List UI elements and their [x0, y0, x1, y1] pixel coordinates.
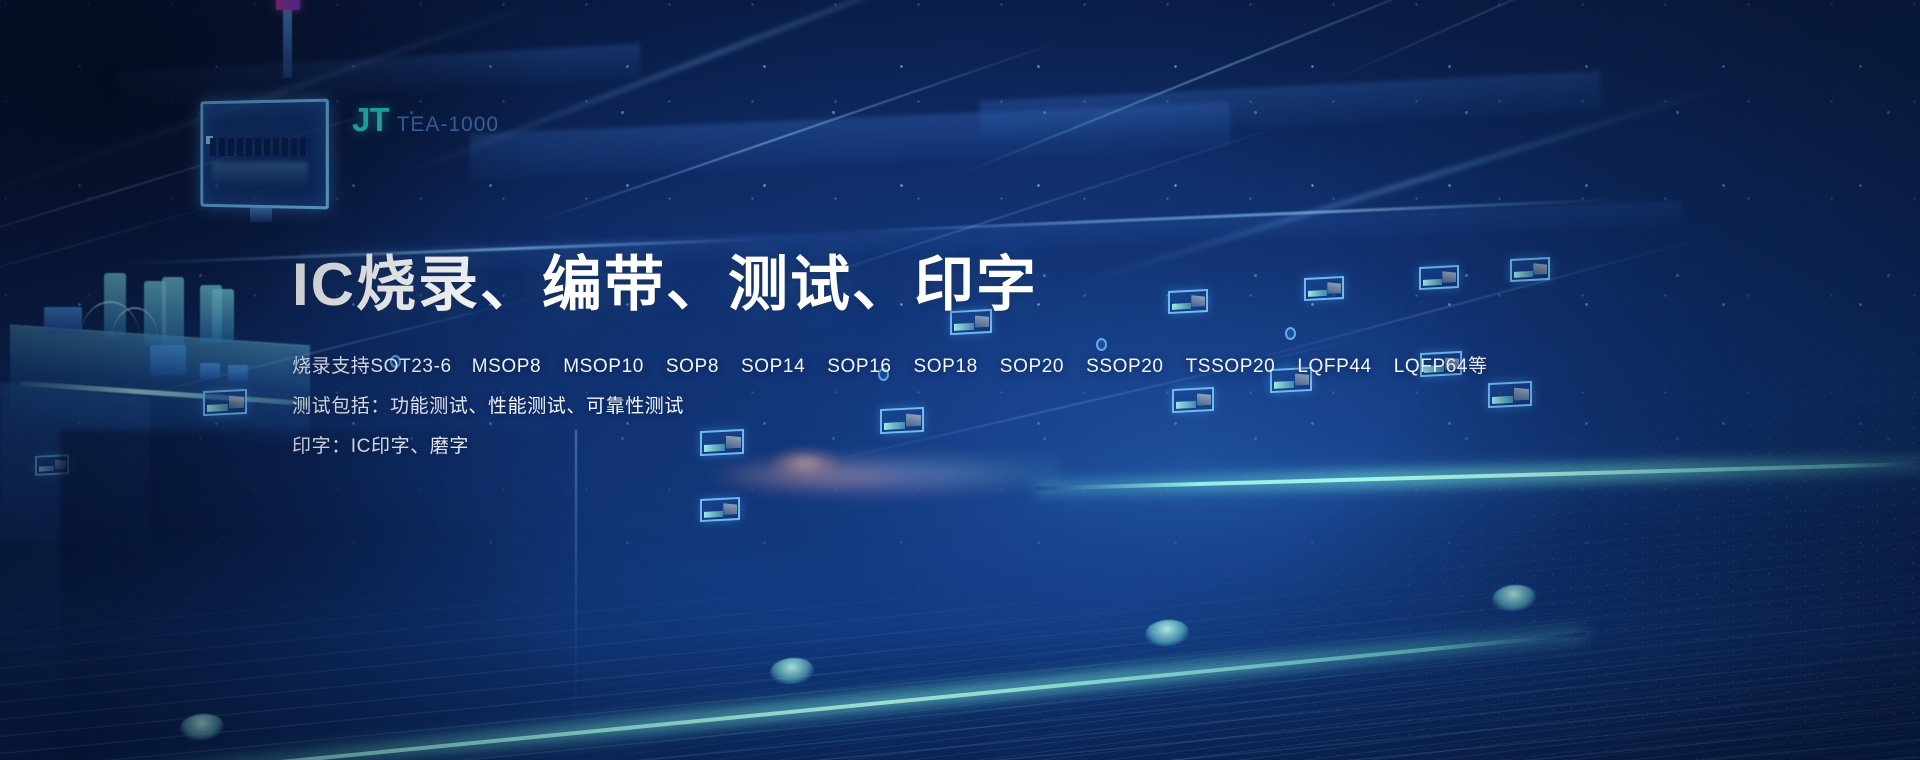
streak	[535, 39, 1065, 223]
package-sop20: SOP20	[1000, 357, 1064, 376]
test-scope-line: 测试包括：功能测试、性能测试、可靠性测试	[292, 397, 1592, 416]
dispenser-nozzle	[283, 0, 292, 78]
equipment-model-text: TEA-1000	[397, 114, 500, 135]
nozzle-indicator-light	[276, 0, 300, 10]
jt-logo: JT	[352, 103, 389, 136]
machine-cylinder	[212, 289, 234, 341]
ic-tray-icon	[700, 497, 740, 522]
machine-module	[44, 307, 82, 333]
streak	[1318, 0, 1703, 87]
page-title: IC烧录、编带、测试、印字	[292, 250, 1592, 319]
marking-scope-line: 印字：IC印字、磨字	[292, 437, 1592, 456]
machine-cylinder	[162, 277, 184, 351]
package-ssop20: SSOP20	[1086, 357, 1164, 376]
streak	[961, 0, 1518, 174]
equipment-label: JT TEA-1000	[352, 103, 499, 136]
package-msop8: MSOP8	[472, 357, 542, 376]
package-tssop20: TSSOP20	[1186, 357, 1276, 376]
package-lqfp44: LQFP44	[1297, 357, 1371, 376]
floor-streak-lines-fine	[192, 580, 1920, 760]
monitor-reflection	[212, 162, 308, 188]
burn-support-line: 烧录支持SOT23-6 MSOP8 MSOP10 SOP8 SOP14 SOP1…	[292, 357, 1592, 376]
ic-tray-icon	[203, 389, 247, 416]
monitor-chip-row	[210, 138, 310, 156]
detail-lines: 烧录支持SOT23-6 MSOP8 MSOP10 SOP8 SOP14 SOP1…	[292, 357, 1592, 456]
burn-support-lead: 烧录支持SOT23-6	[292, 357, 452, 376]
copy-block: IC烧录、编带、测试、印字 烧录支持SOT23-6 MSOP8 MSOP10 S…	[292, 250, 1592, 477]
package-msop10: MSOP10	[563, 357, 644, 376]
package-sop8: SOP8	[666, 357, 719, 376]
package-sop16: SOP16	[827, 357, 891, 376]
control-monitor	[198, 100, 328, 208]
banner-root: JT TEA-1000	[0, 0, 1920, 760]
machine-module	[150, 345, 186, 375]
package-lqfp64: LQFP64等	[1394, 357, 1488, 376]
machine-module	[200, 363, 220, 379]
package-sop14: SOP14	[741, 357, 805, 376]
package-sop18: SOP18	[914, 357, 978, 376]
machine-module	[228, 365, 248, 381]
